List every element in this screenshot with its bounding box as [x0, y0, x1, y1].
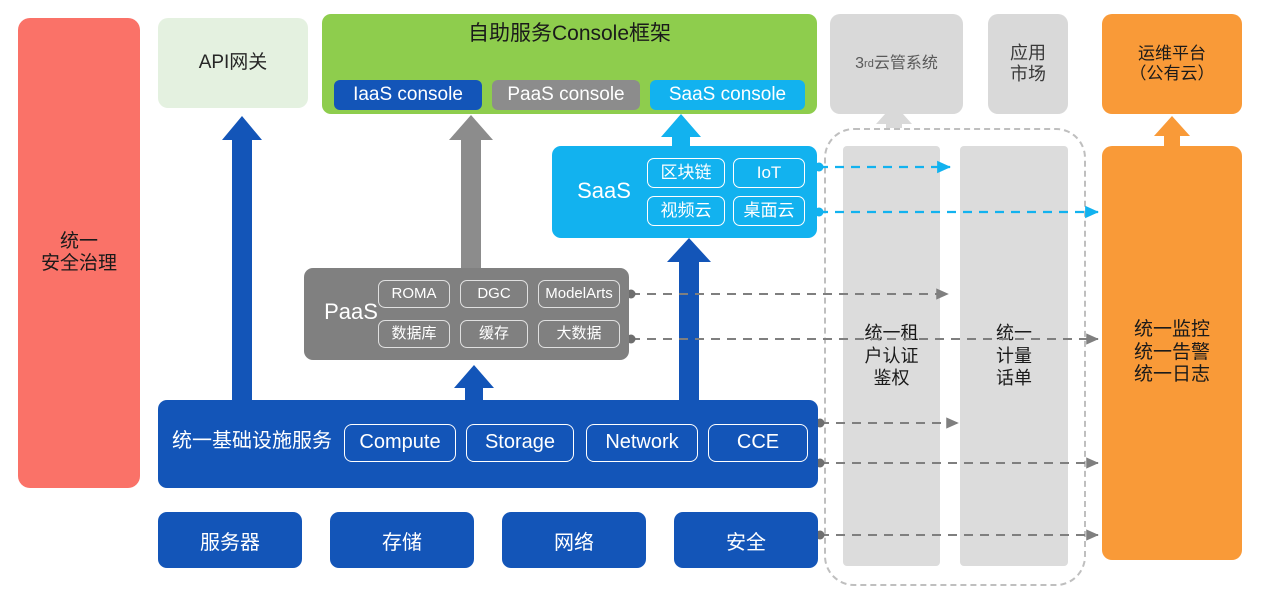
- shared-service-column-auth[interactable]: 统一租 户认证 鉴权: [843, 146, 940, 566]
- infra-item-storage[interactable]: Storage: [466, 424, 574, 462]
- saas-layer-label: SaaS: [564, 178, 644, 204]
- paas-item-modelarts[interactable]: ModelArts: [538, 280, 620, 308]
- third-cloud-label-pre: 3: [855, 55, 864, 74]
- paas-item-bigdata[interactable]: 大数据: [538, 320, 620, 348]
- resource-box-security[interactable]: 安全: [674, 512, 818, 568]
- app-market-box[interactable]: 应用 市场: [988, 14, 1068, 114]
- arrow-infra-to-paas: [454, 365, 494, 400]
- ops-platform-monitoring-panel[interactable]: 统一监控 统一告警 统一日志: [1102, 146, 1242, 560]
- arrow-infra-to-api-gateway: [222, 116, 262, 400]
- iaas-console-button[interactable]: IaaS console: [334, 80, 482, 110]
- arrow-ops-column-to-ops-platform: [1154, 116, 1190, 146]
- infra-item-compute[interactable]: Compute: [344, 424, 456, 462]
- console-framework-panel: 自助服务Console框架 IaaS console PaaS console …: [322, 14, 817, 114]
- arrow-paas-to-paas-console: [449, 115, 493, 268]
- saas-item-desktop-cloud[interactable]: 桌面云: [733, 196, 805, 226]
- saas-item-video-cloud[interactable]: 视频云: [647, 196, 725, 226]
- security-governance-panel[interactable]: 统一 安全治理: [18, 18, 140, 488]
- resource-box-server[interactable]: 服务器: [158, 512, 302, 568]
- paas-item-cache[interactable]: 缓存: [460, 320, 528, 348]
- arrow-saas-to-saas-console: [661, 114, 701, 146]
- unified-infrastructure-panel: 统一基础设施服务 Compute Storage Network CCE: [158, 400, 818, 488]
- architecture-diagram: 统一租 户认证 鉴权 统一 计量 话单: [0, 0, 1265, 605]
- saas-layer-panel: SaaS 区块链 IoT 视频云 桌面云: [552, 146, 817, 238]
- third-cloud-label-post: 云管系统: [874, 55, 938, 74]
- resource-box-storage[interactable]: 存储: [330, 512, 474, 568]
- third-cloud-label-sup: rd: [864, 58, 874, 71]
- third-party-cloud-mgmt-box[interactable]: 3rd云管系统: [830, 14, 963, 114]
- paas-layer-panel: PaaS ROMA DGC ModelArts 数据库 缓存 大数据: [304, 268, 629, 360]
- infra-item-network[interactable]: Network: [586, 424, 698, 462]
- paas-item-roma[interactable]: ROMA: [378, 280, 450, 308]
- unified-infrastructure-label: 统一基础设施服务: [172, 430, 332, 454]
- saas-console-button[interactable]: SaaS console: [650, 80, 805, 110]
- paas-console-button[interactable]: PaaS console: [492, 80, 640, 110]
- paas-item-dgc[interactable]: DGC: [460, 280, 528, 308]
- saas-item-blockchain[interactable]: 区块链: [647, 158, 725, 188]
- api-gateway-box[interactable]: API网关: [158, 18, 308, 108]
- ops-platform-public-cloud-box[interactable]: 运维平台 （公有云）: [1102, 14, 1242, 114]
- arrow-infra-to-saas: [667, 238, 711, 400]
- saas-item-iot[interactable]: IoT: [733, 158, 805, 188]
- resource-box-network[interactable]: 网络: [502, 512, 646, 568]
- paas-item-database[interactable]: 数据库: [378, 320, 450, 348]
- shared-service-column-metering[interactable]: 统一 计量 话单: [960, 146, 1068, 566]
- infra-item-cce[interactable]: CCE: [708, 424, 808, 462]
- console-framework-title: 自助服务Console框架: [322, 22, 817, 47]
